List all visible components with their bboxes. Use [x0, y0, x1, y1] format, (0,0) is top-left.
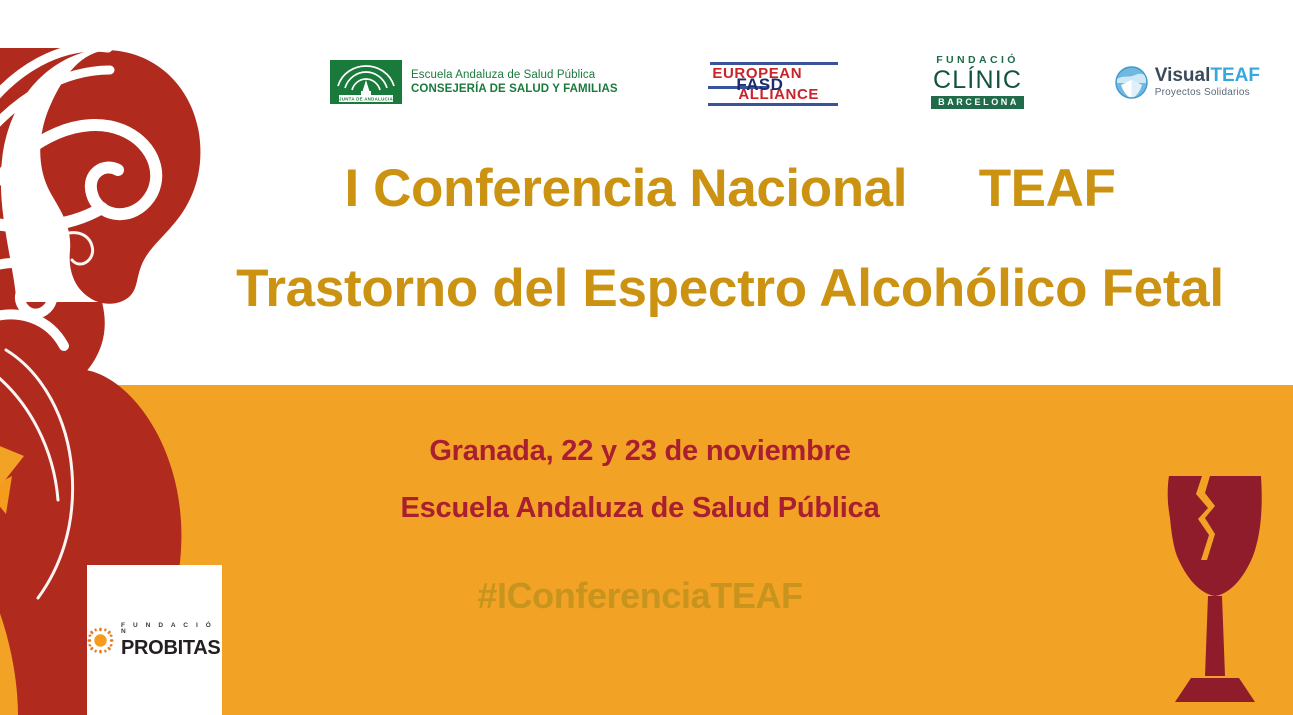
efa-rule-bottom — [708, 103, 838, 106]
clinic-line3: BARCELONA — [931, 96, 1024, 109]
conference-poster: JUNTA DE ANDALUCIA Escuela Andaluza de S… — [0, 0, 1293, 715]
andalucia-arches-icon: JUNTA DE ANDALUCIA — [330, 60, 402, 104]
probitas-line1: F U N D A C I Ó N — [121, 623, 222, 636]
junta-line2: CONSEJERÍA DE SALUD Y FAMILIAS — [411, 82, 618, 96]
probitas-line2: PROBITAS — [121, 638, 222, 658]
headline-block: I Conferencia Nacional TEAF Trastorno de… — [180, 160, 1280, 319]
visualteaf-wordmark: VisualTEAF — [1155, 66, 1260, 86]
clinic-line2: CLÍNIC — [933, 68, 1022, 93]
logo-fundacio-clinic-barcelona: FUNDACIÓ CLÍNIC BARCELONA — [931, 55, 1024, 109]
clinic-line1: FUNDACIÓ — [936, 55, 1019, 66]
event-location-date: Granada, 22 y 23 de noviembre — [210, 435, 1070, 468]
svg-text:JUNTA DE ANDALUCIA: JUNTA DE ANDALUCIA — [339, 96, 394, 101]
globe-icon — [1115, 66, 1148, 99]
efa-word-fasd: FASD — [736, 75, 783, 95]
event-details-block: Granada, 22 y 23 de noviembre Escuela An… — [210, 435, 1070, 617]
sun-icon — [87, 627, 114, 654]
logo-european-fasd-alliance: EUROPEAN ALLIANCE FASD — [708, 56, 840, 108]
visualteaf-word-visual: Visual — [1155, 65, 1211, 86]
logo-fundacion-probitas: F U N D A C I Ó N PROBITAS — [87, 565, 222, 715]
sponsor-logos-row: JUNTA DE ANDALUCIA Escuela Andaluza de S… — [330, 52, 1260, 112]
event-venue: Escuela Andaluza de Salud Pública — [210, 492, 1070, 525]
visualteaf-tagline: Proyectos Solidarios — [1155, 88, 1260, 99]
conference-title-line1: I Conferencia Nacional TEAF — [180, 160, 1280, 218]
junta-line1: Escuela Andaluza de Salud Pública — [411, 68, 618, 82]
conference-title-line2: Trastorno del Espectro Alcohólico Fetal — [180, 260, 1280, 318]
event-hashtag: #IConferenciaTEAF — [210, 575, 1070, 617]
visualteaf-word-teaf: TEAF — [1210, 65, 1260, 86]
logo-visual-teaf: VisualTEAF Proyectos Solidarios — [1115, 66, 1260, 99]
logo-junta-de-andalucia: JUNTA DE ANDALUCIA Escuela Andaluza de S… — [330, 60, 618, 104]
broken-wine-glass-icon — [1155, 468, 1275, 708]
